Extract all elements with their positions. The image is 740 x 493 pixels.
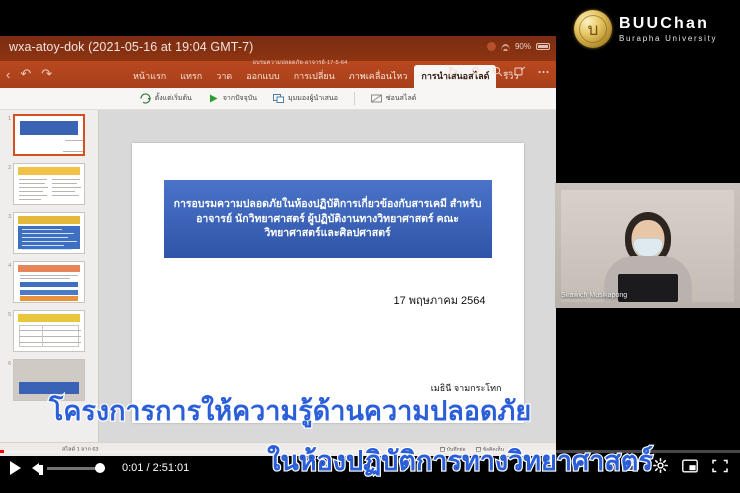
volume-control[interactable]: [32, 463, 105, 473]
tab-home[interactable]: หน้าแรก: [126, 65, 173, 88]
thumb-line: [22, 233, 74, 234]
thumb-line: [19, 336, 81, 337]
thumb-line: [63, 151, 83, 152]
system-status-icons: 90%: [487, 42, 550, 51]
tab-transitions[interactable]: การเปลี่ยน: [287, 65, 342, 88]
right-controls: [622, 458, 730, 478]
thumb-header-block: [18, 265, 80, 272]
miniplayer-icon[interactable]: [682, 459, 698, 478]
play-from-start-icon: [140, 93, 151, 104]
thumb-line: [20, 275, 78, 276]
tab-design[interactable]: ออกแบบ: [239, 65, 287, 88]
thumb-line: [22, 241, 77, 242]
wifi-icon: [501, 43, 510, 51]
thumb-line: [22, 249, 72, 250]
fullscreen-icon[interactable]: [712, 459, 728, 478]
thumbnail-number: 6: [2, 359, 11, 367]
thumbnail-row[interactable]: 1: [2, 114, 98, 156]
volume-knob[interactable]: [95, 463, 105, 473]
command-label: ตั้งแต่เริ่มต้น: [155, 93, 192, 104]
window-filename: wxa-atoy-dok (2021-05-16 at 19:04 GMT-7): [9, 40, 253, 54]
thumb-line: [52, 187, 81, 188]
current-slide[interactable]: การอบรมความปลอดภัยในห้องปฏิบัติการเกี่ยว…: [132, 143, 524, 423]
thumb-line: [52, 191, 75, 192]
thumbnail-number: 2: [2, 163, 11, 171]
tab-animations[interactable]: ภาพเคลื่อนไหว: [342, 65, 415, 88]
thumb-line: [52, 195, 79, 196]
thumb-line: [22, 245, 64, 246]
command-presenter-view[interactable]: มุมมองผู้นำเสนอ: [273, 93, 338, 104]
thumbnail-number: 1: [2, 114, 11, 122]
slide-thumbnail-2[interactable]: [13, 163, 85, 205]
thumb-title-block: [20, 121, 78, 135]
more-icon[interactable]: [537, 66, 550, 77]
powerpoint-workspace: 1 2: [0, 110, 556, 456]
tab-draw[interactable]: วาด: [209, 65, 239, 88]
ribbon-right-icons: [448, 66, 550, 77]
slide-title-box[interactable]: การอบรมความปลอดภัยในห้องปฏิบัติการเกี่ยว…: [164, 180, 492, 258]
command-from-beginning[interactable]: ตั้งแต่เริ่มต้น: [140, 93, 192, 104]
thumb-bar: [20, 290, 78, 295]
thumb-line: [52, 179, 80, 180]
thumbnail-number: 3: [2, 212, 11, 220]
buuchan-logo: บ BUUChan Burapha University: [574, 6, 734, 52]
time-display: 0:01 / 2:51:01: [122, 462, 189, 474]
share-icon[interactable]: [514, 66, 526, 77]
play-from-current-icon: [208, 93, 219, 104]
presenter-view-icon: [273, 93, 284, 104]
slide-thumbnail-1[interactable]: [13, 114, 85, 156]
search-icon[interactable]: [492, 66, 503, 77]
thumb-line: [20, 278, 70, 279]
thumb-header-block: [18, 167, 80, 175]
tab-insert[interactable]: แทรก: [173, 65, 209, 88]
powerpoint-ribbon: อบรมความปลอดภัย-อาจารย์-17-5-64 ‹ ↶ ↷ หน…: [0, 61, 556, 88]
command-label: จากปัจจุบัน: [223, 93, 257, 104]
thumb-line: [19, 187, 48, 188]
thumbnail-row[interactable]: 6: [2, 359, 98, 401]
command-hide-slide[interactable]: ซ่อนสไลด์: [371, 93, 416, 104]
logo-title: BUUChan: [619, 16, 717, 32]
logo-text: BUUChan Burapha University: [619, 16, 717, 43]
command-from-current[interactable]: จากปัจจุบัน: [208, 93, 257, 104]
thumb-header-block: [18, 216, 80, 224]
volume-icon[interactable]: [32, 463, 39, 473]
thumbnail-row[interactable]: 2: [2, 163, 98, 205]
webcam-tile[interactable]: Sirawich Musikapong: [555, 183, 740, 308]
thumb-line: [65, 140, 83, 141]
slide-thumbnail-panel[interactable]: 1 2: [0, 110, 99, 456]
slide-thumbnail-4[interactable]: [13, 261, 85, 303]
seal-glyph: บ: [574, 10, 612, 48]
window-title-bar: wxa-atoy-dok (2021-05-16 at 19:04 GMT-7)…: [0, 36, 556, 61]
slide-author-text: เมธินี จามกระโทก: [431, 381, 502, 395]
logo-subtitle: Burapha University: [619, 35, 717, 43]
thumb-title-block: [19, 382, 79, 394]
left-controls: 0:01 / 2:51:01: [10, 461, 189, 475]
thumbnail-number: 5: [2, 310, 11, 318]
slide-title-text: การอบรมความปลอดภัยในห้องปฏิบัติการเกี่ยว…: [164, 197, 492, 242]
ribbon-nav-buttons: ‹ ↶ ↷: [6, 66, 52, 82]
thumb-line: [22, 229, 62, 230]
slide-thumbnail-5[interactable]: [13, 310, 85, 352]
thumb-line: [19, 183, 45, 184]
battery-percent: 90%: [515, 42, 531, 51]
slide-editing-stage: การอบรมความปลอดภัยในห้องปฏิบัติการเกี่ยว…: [99, 110, 556, 456]
settings-icon[interactable]: [653, 458, 668, 478]
redo-icon[interactable]: ↷: [41, 66, 52, 82]
captions-icon[interactable]: [622, 459, 639, 477]
thumb-line: [19, 199, 41, 200]
battery-icon: [536, 43, 550, 50]
thumbnail-row[interactable]: 4: [2, 261, 98, 303]
thumb-line: [22, 237, 68, 238]
thumb-line: [19, 179, 47, 180]
thumb-line: [19, 195, 47, 196]
video-player-screen: wxa-atoy-dok (2021-05-16 at 19:04 GMT-7)…: [0, 0, 740, 493]
recorded-screen-region: wxa-atoy-dok (2021-05-16 at 19:04 GMT-7)…: [0, 36, 556, 456]
lightbulb-icon[interactable]: [470, 66, 481, 77]
slideshow-command-bar: ตั้งแต่เริ่มต้น จากปัจจุบัน มุมมองผู้นำเ…: [0, 88, 556, 110]
thumb-bar: [20, 282, 78, 287]
back-icon[interactable]: ‹: [6, 67, 10, 82]
thumb-col-divider: [42, 325, 43, 347]
thumb-line: [19, 330, 81, 331]
record-indicator-icon: [487, 42, 496, 51]
hide-slide-icon: [371, 93, 382, 104]
thumb-line: [52, 183, 77, 184]
slide-thumbnail-3[interactable]: [13, 212, 85, 254]
undo-icon[interactable]: ↶: [20, 66, 31, 82]
thumbnail-row[interactable]: 3: [2, 212, 98, 254]
burapha-seal-icon: บ: [574, 10, 612, 48]
play-icon[interactable]: [448, 66, 459, 77]
thumb-bar: [20, 296, 78, 301]
volume-slider[interactable]: [47, 467, 105, 470]
participant-name-label: Sirawich Musikapong: [561, 292, 627, 299]
slide-thumbnail-6[interactable]: [13, 359, 85, 401]
command-label: ซ่อนสไลด์: [386, 93, 416, 104]
command-separator: [354, 92, 355, 105]
thumbnail-number: 4: [2, 261, 11, 269]
control-row: 0:01 / 2:51:01: [0, 453, 740, 483]
thumb-line: [19, 342, 81, 343]
play-icon[interactable]: [10, 461, 21, 475]
thumb-header-block: [18, 314, 80, 322]
thumb-line: [19, 191, 43, 192]
player-controls: 0:01 / 2:51:01: [0, 433, 740, 493]
thumb-image: [14, 360, 84, 400]
slide-date-text: 17 พฤษภาคม 2564: [393, 291, 485, 309]
thumbnail-row[interactable]: 5: [2, 310, 98, 352]
webcam-video: [561, 190, 734, 302]
command-label: มุมมองผู้นำเสนอ: [288, 93, 338, 104]
